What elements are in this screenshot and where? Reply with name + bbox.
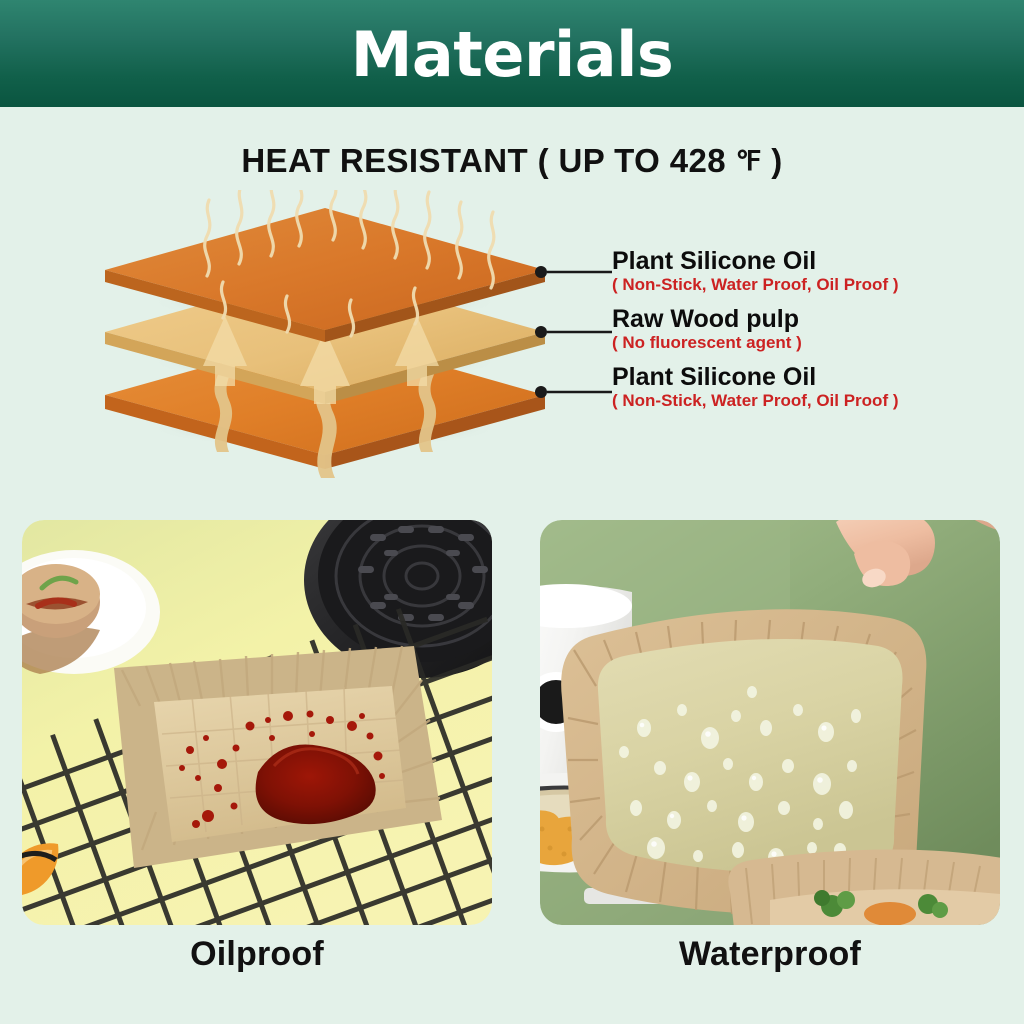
liner-with-food [728, 849, 1000, 925]
layer-diagram [95, 190, 565, 490]
heat-resistance-prefix: HEAT RESISTANT ( UP TO 428 [241, 142, 735, 179]
heat-resistance-heading: HEAT RESISTANT ( UP TO 428 ℉ ) [0, 142, 1024, 180]
caption-waterproof: Waterproof [540, 935, 1000, 974]
callout-subtitle: ( Non-Stick, Water Proof, Oil Proof ) [612, 275, 899, 295]
callout-title: Raw Wood pulp [612, 306, 802, 332]
callout-title: Plant Silicone Oil [612, 364, 899, 390]
callout-layer-bottom: Plant Silicone Oil ( Non-Stick, Water Pr… [612, 364, 899, 411]
callout-layer-top: Plant Silicone Oil ( Non-Stick, Water Pr… [612, 248, 899, 295]
heat-resistance-suffix: ) [762, 142, 783, 179]
callout-subtitle: ( No fluorescent agent ) [612, 333, 802, 353]
photo-waterproof [540, 520, 1000, 925]
caption-oilproof: Oilproof [22, 935, 492, 974]
callout-subtitle: ( Non-Stick, Water Proof, Oil Proof ) [612, 391, 899, 411]
degree-fahrenheit-symbol: ℉ [736, 146, 762, 176]
photo-oilproof [22, 520, 492, 925]
page-title: Materials [351, 24, 674, 86]
callout-layer-middle: Raw Wood pulp ( No fluorescent agent ) [612, 306, 802, 353]
callout-title: Plant Silicone Oil [612, 248, 899, 274]
header-banner: Materials [0, 0, 1024, 107]
